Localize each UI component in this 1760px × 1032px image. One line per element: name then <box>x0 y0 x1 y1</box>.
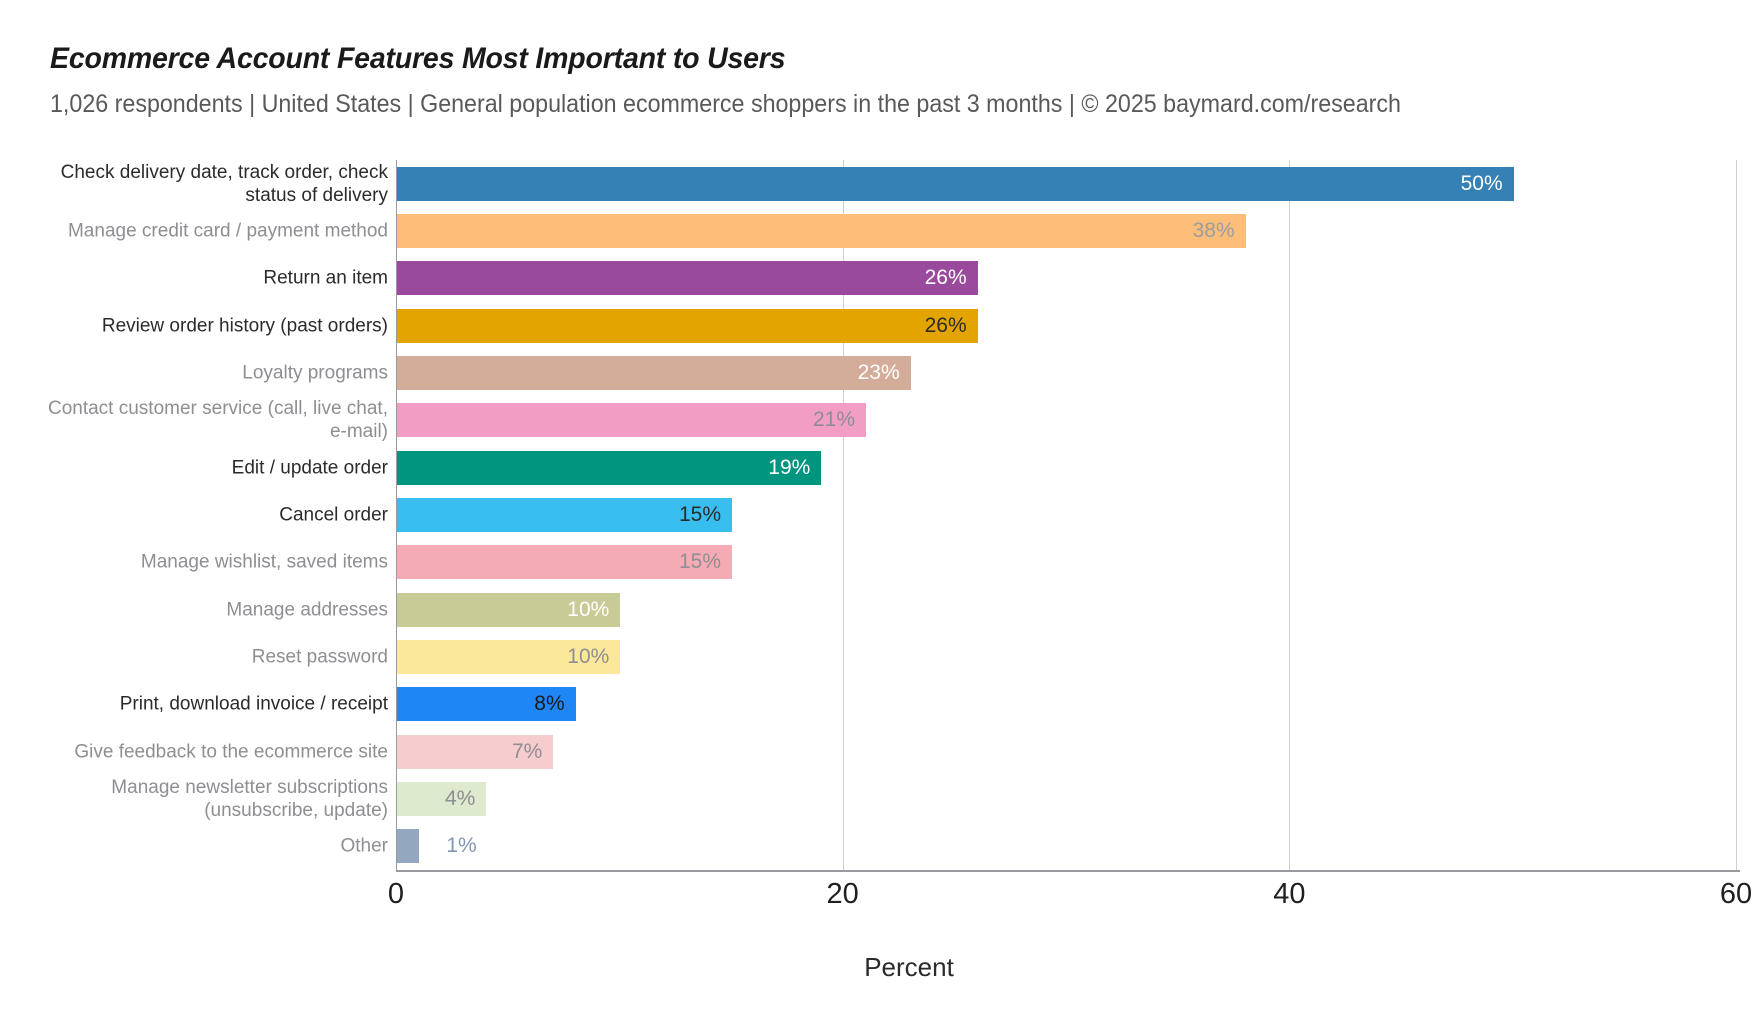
bar-value-label: 23% <box>400 356 900 390</box>
x-axis-title-label: Percent <box>864 952 954 983</box>
bar-value-label: 19% <box>400 451 810 485</box>
chart-header: Ecommerce Account Features Most Importan… <box>50 42 1710 119</box>
category-label: Edit / update order <box>28 456 388 479</box>
x-axis-tick-labels: 0204060 <box>0 878 1760 922</box>
category-label: Contact customer service (call, live cha… <box>28 397 388 443</box>
bar-value-label: 7% <box>400 735 542 769</box>
category-label: Manage newsletter subscriptions (unsubsc… <box>28 776 388 822</box>
x-tick-label: 60 <box>1720 878 1752 911</box>
bar-row[interactable]: Edit / update order19% <box>0 444 1760 491</box>
category-label: Print, download invoice / receipt <box>28 693 388 716</box>
bar-row[interactable]: Loyalty programs23% <box>0 349 1760 396</box>
category-label: Manage wishlist, saved items <box>28 551 388 574</box>
bar-value-label: 15% <box>400 498 721 532</box>
category-label: Return an item <box>28 267 388 290</box>
category-label: Reset password <box>28 645 388 668</box>
category-label: Manage credit card / payment method <box>28 219 388 242</box>
category-label: Review order history (past orders) <box>28 314 388 337</box>
bar-row[interactable]: Check delivery date, track order, check … <box>0 160 1760 207</box>
bar-value-label: 10% <box>400 640 609 674</box>
bar-value-label: 4% <box>400 782 475 816</box>
bar-row[interactable]: Return an item26% <box>0 255 1760 302</box>
bar-value-label: 38% <box>400 214 1235 248</box>
bar-row[interactable]: Other1% <box>0 823 1760 870</box>
category-label: Manage addresses <box>28 598 388 621</box>
bar-value-label: 50% <box>400 167 1503 201</box>
bar-row[interactable]: Cancel order15% <box>0 491 1760 538</box>
x-tick-label: 20 <box>827 878 859 911</box>
chart-subtitle: 1,026 respondents | United States | Gene… <box>50 90 1594 119</box>
chart-page: Ecommerce Account Features Most Importan… <box>0 0 1760 1032</box>
category-label: Check delivery date, track order, check … <box>28 161 388 207</box>
bar-value-label: 21% <box>400 403 855 437</box>
x-axis-line <box>396 870 1740 872</box>
bar-row[interactable]: Manage credit card / payment method38% <box>0 207 1760 254</box>
bar-value-label: 1% <box>446 829 476 863</box>
category-label: Cancel order <box>28 503 388 526</box>
plot-area: Check delivery date, track order, check … <box>0 160 1760 880</box>
x-tick-label: 0 <box>388 878 404 911</box>
bar-row[interactable]: Manage newsletter subscriptions (unsubsc… <box>0 775 1760 822</box>
x-tick-label: 40 <box>1273 878 1305 911</box>
bar-row[interactable]: Manage addresses10% <box>0 586 1760 633</box>
x-axis-title: Percent <box>0 952 1760 983</box>
category-label: Other <box>28 835 388 858</box>
bar-row[interactable]: Give feedback to the ecommerce site7% <box>0 728 1760 775</box>
category-label: Give feedback to the ecommerce site <box>28 740 388 763</box>
page-title: Ecommerce Account Features Most Importan… <box>50 42 1627 76</box>
bar-row[interactable]: Manage wishlist, saved items15% <box>0 539 1760 586</box>
bar-row[interactable]: Review order history (past orders)26% <box>0 302 1760 349</box>
bar-row[interactable]: Contact customer service (call, live cha… <box>0 397 1760 444</box>
bar-row[interactable]: Print, download invoice / receipt8% <box>0 681 1760 728</box>
bar-value-label: 8% <box>400 687 565 721</box>
bar-value-label: 26% <box>400 261 967 295</box>
bar[interactable] <box>397 829 419 863</box>
bar-value-label: 15% <box>400 545 721 579</box>
bar-row[interactable]: Reset password10% <box>0 633 1760 680</box>
category-label: Loyalty programs <box>28 361 388 384</box>
bar-value-label: 10% <box>400 593 609 627</box>
bar-rows: Check delivery date, track order, check … <box>0 160 1760 870</box>
bar-value-label: 26% <box>400 309 967 343</box>
